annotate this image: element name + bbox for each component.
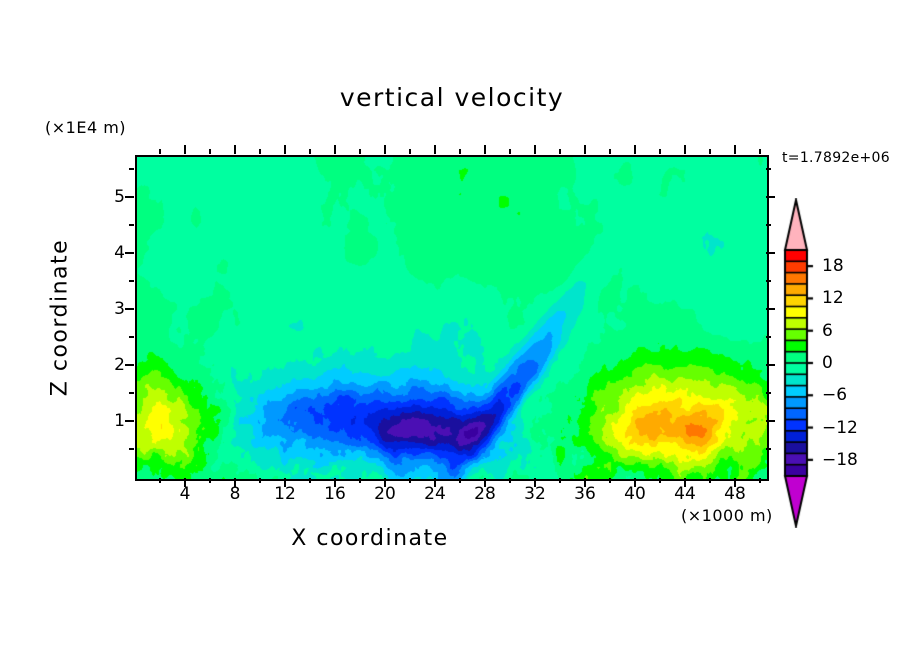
y-tick-left [125, 308, 134, 310]
x-tick-label: 48 [724, 484, 746, 504]
x-tick-bottom [659, 478, 661, 483]
colorbar-tick-label: 18 [822, 256, 844, 276]
x-tick-top [634, 145, 636, 154]
y-tick-left [125, 196, 134, 198]
x-tick-top [434, 145, 436, 154]
y-tick-right [766, 364, 775, 366]
x-tick-label: 4 [180, 484, 191, 504]
y-tick-right [766, 308, 775, 310]
y-tick-label: 1 [99, 411, 125, 431]
colorbar-tick-label: −6 [822, 385, 847, 405]
y-tick-left [129, 392, 134, 394]
x-tick-top [234, 145, 236, 154]
x-tick-top [159, 149, 161, 154]
x-tick-top [484, 145, 486, 154]
x-tick-bottom [209, 478, 211, 483]
x-tick-top [659, 149, 661, 154]
y-axis-title: Z coordinate [48, 198, 73, 438]
x-tick-label: 8 [230, 484, 241, 504]
x-tick-top [609, 149, 611, 154]
y-tick-left [125, 252, 134, 254]
contour-field [137, 157, 767, 479]
y-tick-right [766, 420, 775, 422]
x-tick-top [584, 145, 586, 154]
colorbar-tick-label: 6 [822, 321, 833, 341]
y-tick-left [129, 224, 134, 226]
colorbar-gradient [781, 198, 815, 528]
y-tick-label: 4 [99, 243, 125, 263]
x-tick-label: 12 [274, 484, 296, 504]
x-tick-top [334, 145, 336, 154]
y-tick-left [129, 336, 134, 338]
colorbar[interactable] [781, 198, 815, 528]
y-tick-label: 2 [99, 355, 125, 375]
x-tick-top [209, 149, 211, 154]
y-tick-right [766, 196, 775, 198]
x-tick-label: 16 [324, 484, 346, 504]
x-tick-label: 36 [574, 484, 596, 504]
x-tick-label: 32 [524, 484, 546, 504]
colorbar-tick-label: −12 [822, 418, 858, 438]
y-tick-left [125, 420, 134, 422]
x-tick-bottom [459, 478, 461, 483]
colorbar-tick-label: 12 [822, 288, 844, 308]
x-tick-bottom [509, 478, 511, 483]
x-tick-top [684, 145, 686, 154]
x-tick-label: 20 [374, 484, 396, 504]
y-tick-right [766, 224, 771, 226]
y-tick-label: 5 [99, 187, 125, 207]
x-tick-bottom [259, 478, 261, 483]
x-tick-bottom [759, 478, 761, 483]
plot-area[interactable] [135, 155, 769, 481]
x-tick-top [184, 145, 186, 154]
figure-canvas: vertical velocity (×1E4 m) (×1000 m) X c… [0, 0, 904, 654]
x-tick-bottom [359, 478, 361, 483]
x-tick-top [359, 149, 361, 154]
x-tick-bottom [559, 478, 561, 483]
x-tick-top [284, 145, 286, 154]
y-tick-right [766, 252, 775, 254]
y-tick-right [766, 280, 771, 282]
x-tick-bottom [309, 478, 311, 483]
x-axis-title: X coordinate [0, 526, 740, 551]
y-tick-left [125, 364, 134, 366]
y-tick-right [766, 392, 771, 394]
timestamp-annotation: t=1.7892e+06 [782, 150, 890, 166]
y-tick-right [766, 336, 771, 338]
x-axis-unit-label: (×1000 m) [681, 506, 773, 525]
x-tick-label: 40 [624, 484, 646, 504]
y-tick-left [129, 448, 134, 450]
y-tick-left [129, 280, 134, 282]
x-tick-bottom [159, 478, 161, 483]
x-tick-top [509, 149, 511, 154]
x-tick-top [409, 149, 411, 154]
x-tick-top [459, 149, 461, 154]
x-tick-top [734, 145, 736, 154]
y-tick-label: 3 [99, 299, 125, 319]
y-tick-left [129, 168, 134, 170]
x-tick-label: 44 [674, 484, 696, 504]
x-tick-bottom [409, 478, 411, 483]
y-tick-right [766, 168, 771, 170]
x-tick-top [309, 149, 311, 154]
colorbar-tick-label: −18 [822, 450, 858, 470]
x-tick-top [709, 149, 711, 154]
x-tick-bottom [709, 478, 711, 483]
x-tick-top [559, 149, 561, 154]
page-title: vertical velocity [0, 83, 904, 112]
x-tick-top [384, 145, 386, 154]
y-axis-unit-label: (×1E4 m) [45, 118, 126, 137]
x-tick-label: 28 [474, 484, 496, 504]
x-tick-top [534, 145, 536, 154]
x-tick-top [759, 149, 761, 154]
x-tick-top [259, 149, 261, 154]
y-tick-right [766, 448, 771, 450]
colorbar-tick-label: 0 [822, 353, 833, 373]
x-tick-label: 24 [424, 484, 446, 504]
x-tick-bottom [609, 478, 611, 483]
